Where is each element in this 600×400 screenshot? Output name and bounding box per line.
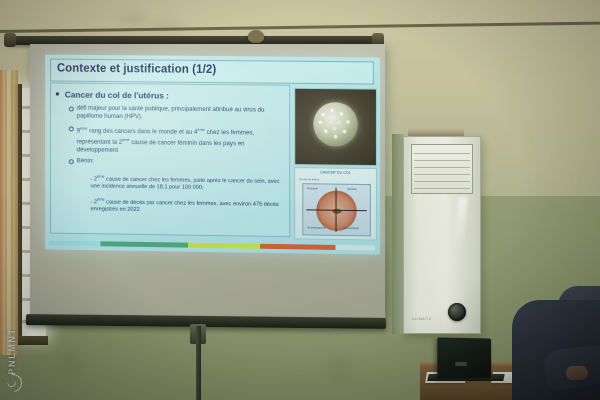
ac-control-knob[interactable]	[448, 303, 466, 321]
dash2-rest: cause de décès par cancer chez les femme…	[91, 199, 279, 213]
slide-title: Contexte et justification (1/2)	[57, 63, 216, 76]
screenshot-root: Contexte et justification (1/2) Cancer d…	[0, 0, 600, 400]
slide-footer-stripe	[49, 240, 375, 250]
cervix-diagram-subcaption: Zones de lésion	[299, 177, 319, 181]
projector-screen: Contexte et justification (1/2) Cancer d…	[30, 44, 385, 319]
roller-mount-knob	[248, 30, 264, 43]
ac-brand-label: CLIMATIS	[412, 317, 432, 321]
virion-particle	[313, 102, 357, 147]
hpv-virion-micrograph	[294, 88, 377, 166]
sb2-sup2: ème	[197, 127, 205, 132]
circle-bullet-icon	[69, 126, 74, 131]
stripe-seg-3	[188, 243, 260, 249]
crosshair-vertical	[336, 188, 337, 232]
sub-bullet-1-text: défi majeur pour la santé publique, prin…	[77, 105, 265, 121]
sb2-mid1: rang des cancers dans le monde et au 4	[88, 128, 198, 136]
dash-item-1: - 2ème cause de cancer chez les femmes, …	[91, 172, 281, 193]
dash1-rest: cause de cancer chez les femmes, juste a…	[91, 176, 280, 191]
window-curtain	[0, 70, 18, 355]
wall-mark	[120, 14, 146, 24]
sub-bullet-1: défi majeur pour la santé publique, prin…	[77, 105, 276, 123]
capsomere-texture	[313, 102, 357, 147]
air-conditioner: CLIMATIS	[403, 136, 481, 334]
quadrant-label: Au bord gauche	[307, 226, 325, 229]
screen-support-pole	[196, 326, 201, 400]
wall-mark	[330, 356, 348, 382]
roller-end-cap	[4, 33, 16, 47]
quadrant-label: Proximal	[307, 187, 317, 190]
dash2-sup: ème	[97, 196, 105, 201]
wall-mark	[60, 350, 82, 380]
ac-intake-grille	[411, 144, 473, 194]
quadrant-label: Au bord droit	[344, 227, 359, 230]
laptop-logo	[455, 362, 467, 366]
laptop-lid	[437, 337, 491, 378]
cervix-image-frame: Proximal Externe Au bord gauche Au bord …	[302, 183, 371, 236]
bullet-level1-text: Cancer du col de l'utérus :	[65, 90, 169, 101]
quadrant-label: Externe	[348, 188, 357, 191]
sub-bullet-3: Bénin:	[77, 157, 94, 165]
cervix-illustration	[316, 190, 356, 231]
watermark: PNLMNT	[2, 318, 22, 396]
slide-title-box: Contexte et justification (1/2)	[50, 59, 374, 85]
sub-bullet-2: 9ème rang des cancers dans le monde et a…	[77, 124, 280, 156]
person-hand	[566, 366, 588, 380]
stripe-seg-5	[335, 245, 375, 251]
watermark-logo-icon	[0, 370, 25, 395]
slide-body-box: Cancer du col de l'utérus : défi majeur …	[50, 82, 290, 237]
dash-item-2: - 2ème cause de décès par cancer chez le…	[91, 195, 283, 216]
circle-bullet-icon	[69, 159, 74, 164]
stripe-seg-1	[49, 240, 101, 246]
circle-bullet-icon	[69, 106, 74, 111]
projected-slide: Contexte et justification (1/2) Cancer d…	[45, 55, 380, 255]
dash1-sup: ème	[97, 174, 105, 179]
stripe-seg-4	[260, 244, 335, 250]
sb2-sup1: ème	[80, 126, 88, 131]
bullet-level1: Cancer du col de l'utérus :	[65, 90, 169, 101]
cervix-diagram-caption: CANCER DU COL	[295, 170, 376, 175]
square-bullet-icon	[56, 92, 58, 95]
sub-bullet-3-text: Bénin:	[77, 157, 94, 164]
ac-highlight	[453, 197, 467, 250]
cervix-diagram: CANCER DU COL Zones de lésion Proximal E…	[294, 167, 377, 240]
stripe-seg-2	[101, 241, 189, 247]
